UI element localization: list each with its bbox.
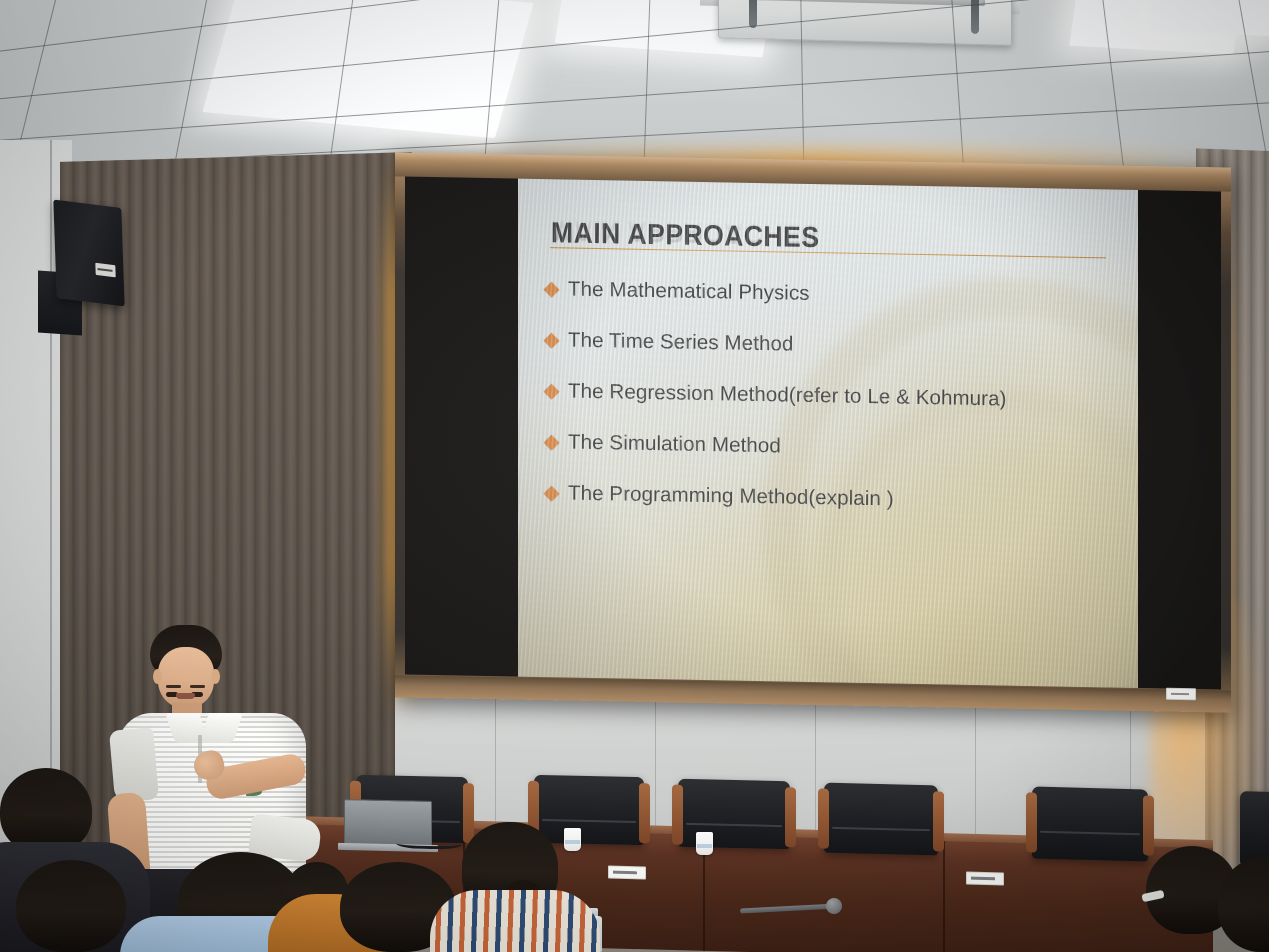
projected-slide: MAIN APPROACHES MAIN APPROACHES The Math… [518,179,1138,688]
chair-armrest [1026,792,1037,852]
chair-seam [686,823,782,827]
chair [1032,786,1148,861]
chair [678,779,790,850]
ceiling-light-panel-1 [202,0,533,138]
ac-grille [745,0,985,6]
bullet-diamond-icon [544,485,560,501]
title-underline-rule [550,247,1106,259]
ceiling-ac-cassette [718,0,1012,46]
screen-letterbox: MAIN APPROACHES MAIN APPROACHES The Math… [405,177,1221,690]
cable [396,835,462,849]
bullet-diamond-icon [544,383,560,399]
chair-seam [542,819,636,823]
ceiling-light-panel-4 [1147,0,1269,36]
bullet-diamond-icon [544,332,560,348]
slide-bullet-item: The Simulation Method [546,430,1130,465]
name-card [966,872,1004,886]
conference-room-photo: MAIN APPROACHES MAIN APPROACHES The Math… [0,0,1269,952]
presenter-face [158,647,214,709]
presenter-ear [211,669,220,684]
slide-bullet-list: The Mathematical PhysicsThe Time Series … [546,277,1130,543]
slide-bullet-text: The Regression Method(refer to Le & Kohm… [568,380,1007,412]
chair [824,783,938,856]
audience-shoulders [430,890,600,952]
slide-bullet-text: The Time Series Method [568,329,794,357]
ceiling [0,0,1269,172]
bullet-diamond-icon [544,281,560,297]
presenter-collar [199,713,243,743]
speaker-label [95,263,115,278]
ceiling-tile-line [0,45,1269,145]
chair-seam [1040,831,1140,836]
slide-bullet-item: The Programming Method(explain ) [546,481,1130,516]
projection-screen-frame: MAIN APPROACHES MAIN APPROACHES The Math… [395,152,1231,712]
paper-cup [564,828,581,851]
chair-armrest [818,788,829,848]
presenter-eyebrow [190,685,205,688]
paper-cup [696,832,713,855]
presenter-ear [153,669,162,684]
slide-bullet-text: The Mathematical Physics [568,278,810,306]
slide-bullet-text: The Simulation Method [568,431,781,459]
chair-armrest [933,791,944,851]
presenter-eyebrow [166,685,181,688]
slide-bullet-item: The Mathematical Physics [546,277,1130,312]
bullet-diamond-icon [544,434,560,450]
screen-frame-label [1166,688,1196,701]
ac-vane [749,0,757,28]
audience-head [16,860,126,952]
chair-armrest [785,787,796,847]
presenter-left-arm [109,727,159,803]
chair-armrest [1143,795,1154,855]
slide-bullet-item: The Time Series Method [546,328,1130,363]
wall-speaker [53,200,124,307]
slide-bullet-item: The Regression Method(refer to Le & Kohm… [546,379,1130,414]
chair-seam [832,827,930,831]
presenter-mouth [176,693,195,699]
name-card [608,866,646,880]
chair-armrest [672,785,683,845]
slide-bullet-text: The Programming Method(explain ) [568,482,894,512]
dais-seam [943,841,945,952]
chair-armrest [463,783,474,843]
slide-content: MAIN APPROACHES MAIN APPROACHES The Math… [518,179,1138,688]
microphone-base [826,898,842,914]
chair [534,775,644,845]
chair-armrest [639,783,650,843]
